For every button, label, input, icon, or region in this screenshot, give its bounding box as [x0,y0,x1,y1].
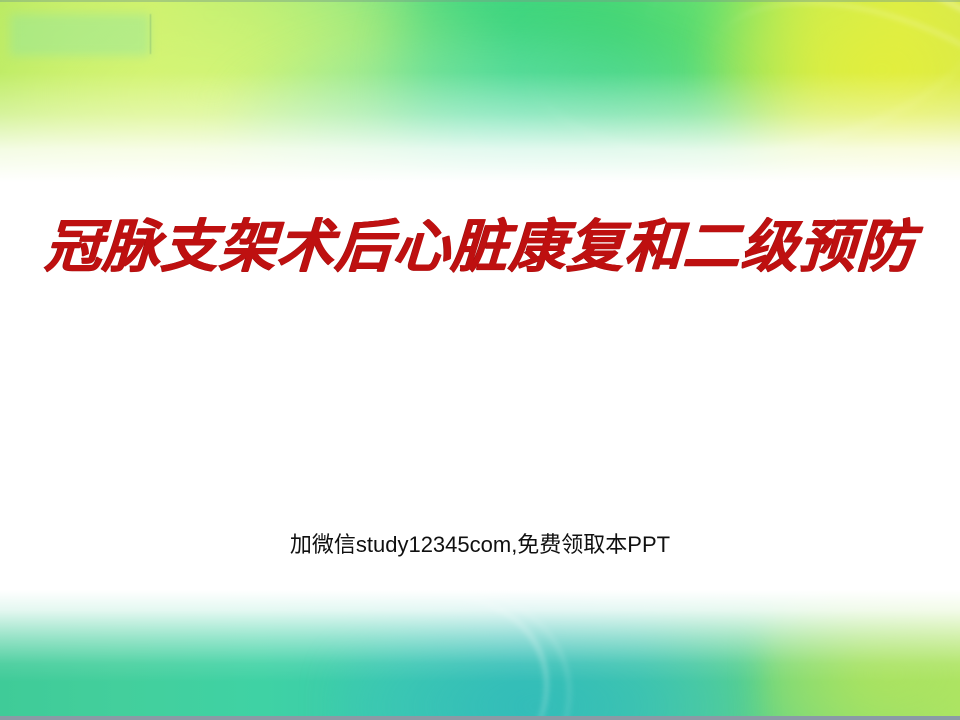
presentation-slide: 冠脉支架术后心脏康复和二级预防 加微信study12345com,免费领取本PP… [0,0,960,720]
top-decorative-band [0,0,960,182]
top-band-hairline-artifact [150,14,151,54]
top-band-white-fade [0,72,960,182]
top-band-highlight-rectangle [10,14,150,56]
slide-subtitle: 加微信study12345com,免费领取本PPT [0,531,960,559]
bottom-decorative-band [0,590,960,720]
bottom-band-white-fade [0,590,960,682]
slide-bottom-edge-line [0,716,960,720]
slide-title: 冠脉支架术后心脏康复和二级预防 [0,216,960,278]
slide-top-edge-line [0,0,960,2]
